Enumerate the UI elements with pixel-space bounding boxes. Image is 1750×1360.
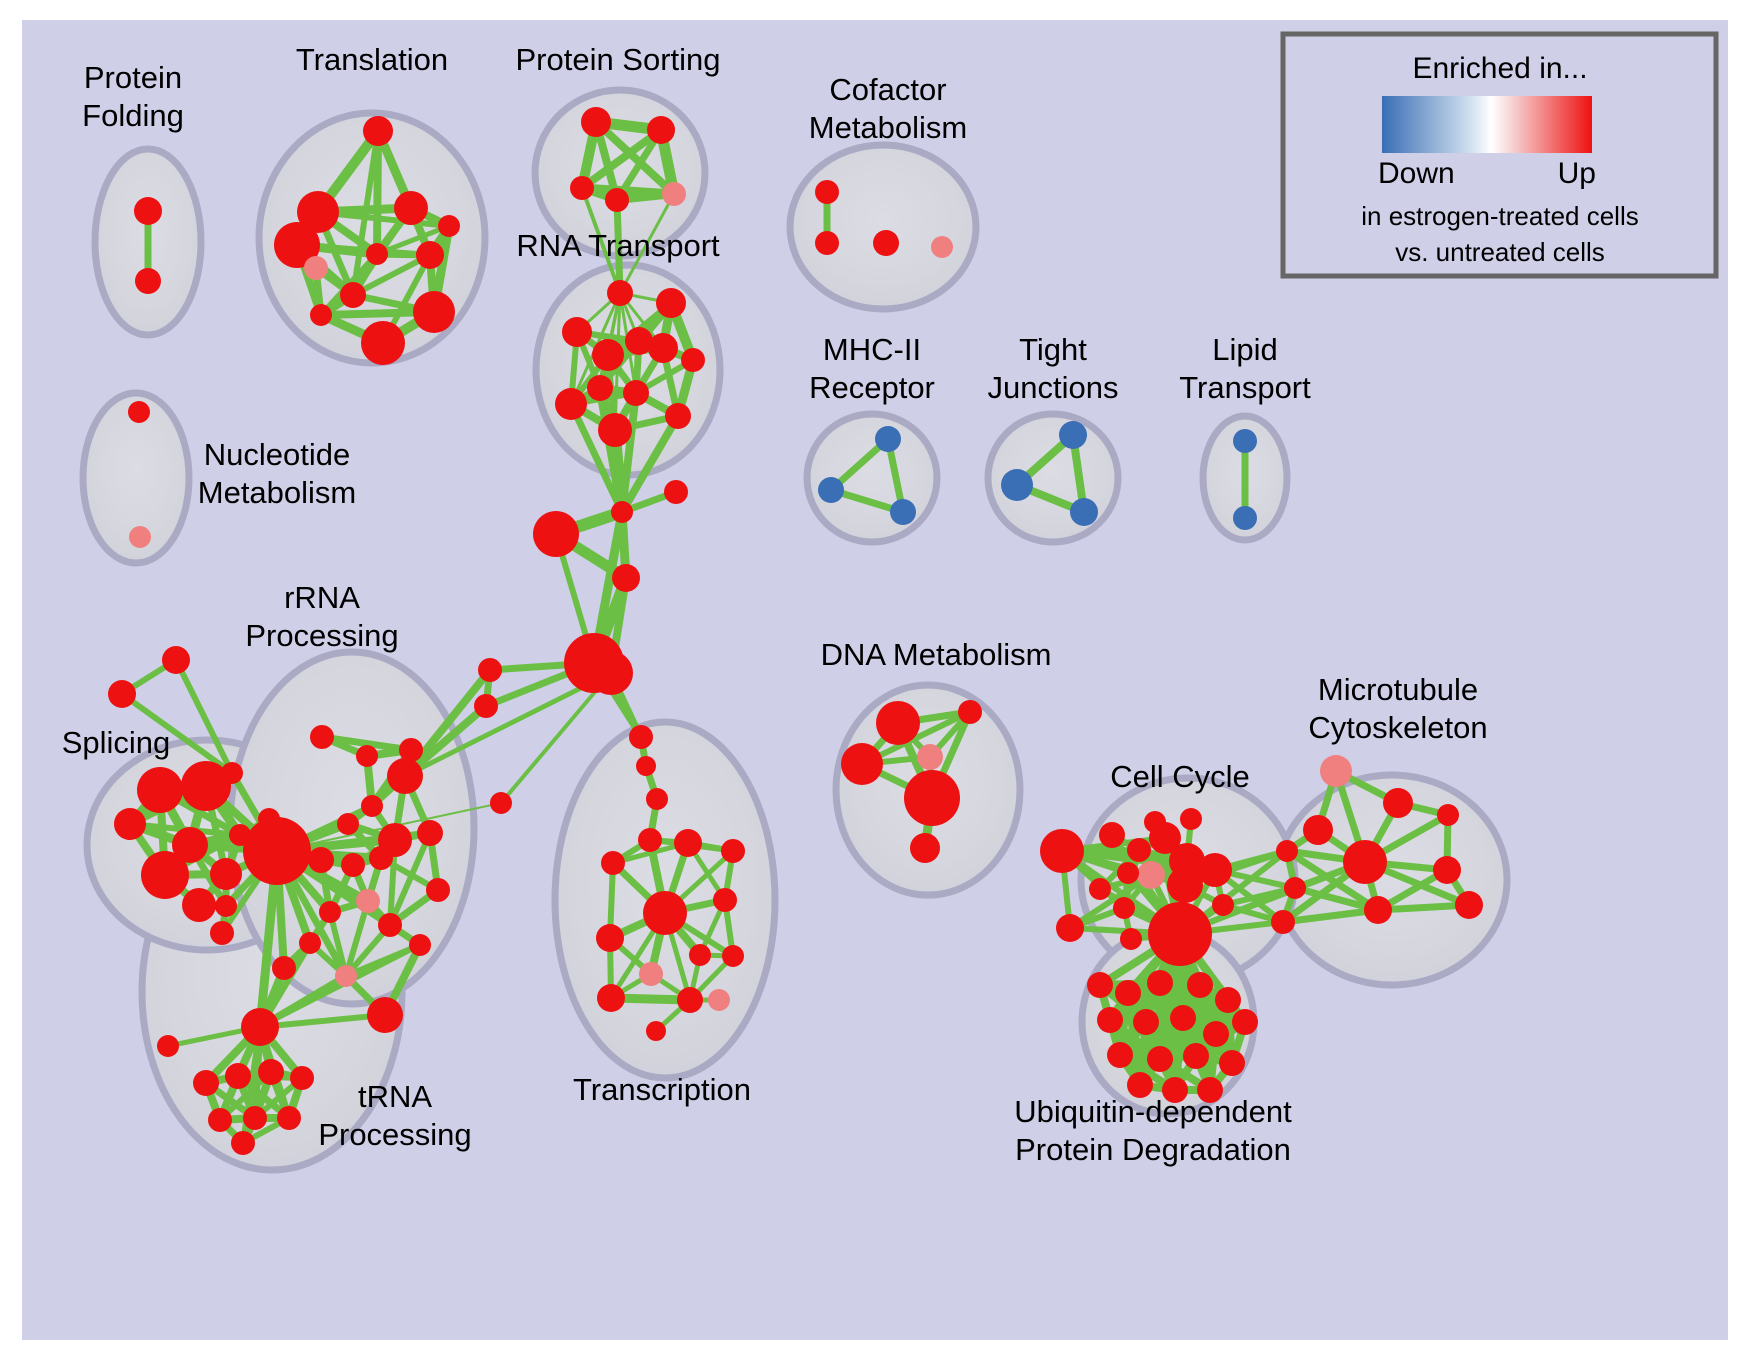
node [1233,429,1257,453]
cluster-label-protein-folding-line2: Folding [82,98,184,133]
node [426,878,450,902]
node [231,1131,255,1155]
node [1137,861,1165,889]
node [587,375,613,401]
legend-caption-line1: in estrogen-treated cells [1361,201,1638,231]
cluster-label-tight-junctions-line1: Tight [1019,332,1087,367]
node [815,231,839,255]
node [337,813,359,835]
node [135,268,161,294]
node [182,888,216,922]
cluster-label-ubiquitin-line1: Ubiquitin-dependent [1014,1094,1292,1129]
node [598,413,632,447]
cluster-label-rrna-processing-line1: rRNA [284,580,360,615]
node [601,851,625,875]
node [638,828,662,852]
node [193,1070,219,1096]
cluster-halo-cofactor-metabolism [790,145,976,309]
node [1433,856,1461,884]
node [904,770,960,826]
node [1284,877,1306,899]
cluster-label-lipid-transport-line2: Transport [1179,370,1311,405]
cluster-label-ubiquitin-line2: Protein Degradation [1015,1132,1291,1167]
node [1056,914,1084,942]
node [162,646,190,674]
node [1276,840,1298,862]
node [1097,1007,1123,1033]
node [181,761,231,811]
node [304,256,328,280]
cluster-label-nucleotide-metabolism-line1: Nucleotide [204,437,350,472]
node [1303,815,1333,845]
legend-title: Enriched in... [1412,52,1587,85]
node [1364,896,1392,924]
node [875,426,901,452]
node [1198,853,1232,887]
node [1089,878,1111,900]
node [1107,1042,1133,1068]
node [1147,970,1173,996]
node [319,901,341,923]
node [818,477,844,503]
cluster-label-microtubule-cytoskeleton-line1: Microtubule [1318,672,1478,707]
legend-panel: Enriched in... Down Up in estrogen-treat… [1283,34,1716,276]
node [108,680,136,708]
node [1115,980,1141,1006]
node [722,945,744,967]
node [258,1059,284,1085]
node [662,182,686,206]
node [340,282,366,308]
node [1187,972,1213,998]
node [1099,822,1125,848]
node [605,188,629,212]
node [648,333,678,363]
node [1215,987,1241,1013]
node [841,743,883,785]
node [208,1108,232,1132]
node [1040,829,1084,873]
node [134,197,162,225]
node [241,1008,279,1046]
node [623,380,649,406]
legend-high-label: Up [1558,157,1596,190]
node [299,932,321,954]
cluster-label-tight-junctions-line2: Junctions [988,370,1119,405]
node [490,792,512,814]
node [636,756,656,776]
node [366,243,388,265]
node [1320,755,1352,787]
node [361,321,405,365]
node [1203,1021,1229,1047]
node [1170,1005,1196,1031]
node [1059,421,1087,449]
node [592,339,624,371]
node [1219,1050,1245,1076]
node [141,851,189,899]
node [356,745,378,767]
cluster-label-mhc-ii-receptor-line2: Receptor [809,370,935,405]
node [664,480,688,504]
node [243,817,311,885]
node [646,788,668,810]
node [225,1063,251,1089]
node [356,889,380,913]
node [612,564,640,592]
node [611,501,633,523]
node [1271,910,1295,934]
cluster-label-dna-metabolism: DNA Metabolism [821,637,1052,672]
legend-low-label: Down [1378,157,1455,190]
node [308,847,334,873]
node [210,921,234,945]
node [1117,862,1139,884]
node [310,725,334,749]
node [1120,928,1142,950]
cluster-label-trna-processing-line2: Processing [318,1117,471,1152]
node [335,965,357,987]
node [681,348,705,372]
node [394,191,428,225]
node [1167,867,1203,903]
node [1437,804,1459,826]
node [1133,1009,1159,1035]
cluster-label-protein-folding-line1: Protein [84,60,182,95]
node [367,997,403,1033]
node [438,215,460,237]
node [363,116,393,146]
node [596,924,624,952]
node [873,230,899,256]
node [387,758,423,794]
cluster-label-translation: Translation [296,42,448,77]
node [674,829,702,857]
node [1383,788,1413,818]
node [409,934,431,956]
node [721,839,745,863]
node [639,962,663,986]
node [629,725,653,749]
node [677,987,703,1013]
node [114,808,146,840]
node [1233,506,1257,530]
cluster-label-trna-processing-line1: tRNA [358,1079,432,1114]
node [815,180,839,204]
cluster-label-rrna-processing-line2: Processing [245,618,398,653]
node [910,833,940,863]
node [533,511,579,557]
node [272,956,296,980]
node [1455,891,1483,919]
cluster-label-mhc-ii-receptor-line1: MHC-II [823,332,921,367]
node [243,1106,267,1130]
enrichment-map-figure: Protein Folding Translation Nucleotide M… [0,0,1750,1360]
node [1070,498,1098,526]
node [581,107,611,137]
node [378,913,402,937]
cluster-label-lipid-transport-line1: Lipid [1212,332,1278,367]
cluster-label-cofactor-metabolism-line1: Cofactor [829,72,946,107]
node [562,317,592,347]
node [474,694,498,718]
node [277,1106,301,1130]
cluster-label-cell-cycle: Cell Cycle [1110,759,1250,794]
node [689,944,711,966]
node [310,304,332,326]
node [215,895,237,917]
legend-caption-line2: vs. untreated cells [1395,237,1605,267]
node [1180,808,1202,830]
network-canvas: Protein Folding Translation Nucleotide M… [0,0,1750,1360]
node [917,744,943,770]
node [555,388,587,420]
cluster-label-splicing: Splicing [62,725,171,760]
node [290,1066,314,1090]
cluster-label-transcription: Transcription [573,1072,751,1107]
node [1148,902,1212,966]
node [341,853,365,877]
legend-gradient-bar [1382,96,1592,153]
node [1232,1009,1258,1035]
node [958,700,982,724]
node [1183,1043,1209,1069]
node [656,288,686,318]
node [876,701,920,745]
cluster-label-cofactor-metabolism-line2: Metabolism [809,110,968,145]
cluster-label-protein-sorting: Protein Sorting [515,42,720,77]
node [129,526,151,548]
node [157,1035,179,1057]
node [128,401,150,423]
cluster-label-nucleotide-metabolism-line2: Metabolism [198,475,357,510]
node [890,499,916,525]
node [570,176,594,200]
node [1147,1046,1173,1072]
node [708,989,730,1011]
node [137,767,183,813]
node [713,888,737,912]
node [413,291,455,333]
node [417,820,443,846]
node [1127,838,1151,862]
node [416,241,444,269]
cluster-label-rna-transport: RNA Transport [516,228,720,263]
node [607,280,633,306]
node [597,984,625,1012]
node [1001,469,1033,501]
node [643,891,687,935]
node [647,116,675,144]
node [665,403,691,429]
node [361,795,383,817]
node [1343,840,1387,884]
node [369,846,393,870]
node [931,236,953,258]
cluster-label-microtubule-cytoskeleton-line2: Cytoskeleton [1308,710,1487,745]
node [210,858,242,890]
node [1113,897,1135,919]
node [478,658,502,682]
node [1087,972,1113,998]
node [646,1021,666,1041]
node [1212,894,1234,916]
node [589,651,633,695]
